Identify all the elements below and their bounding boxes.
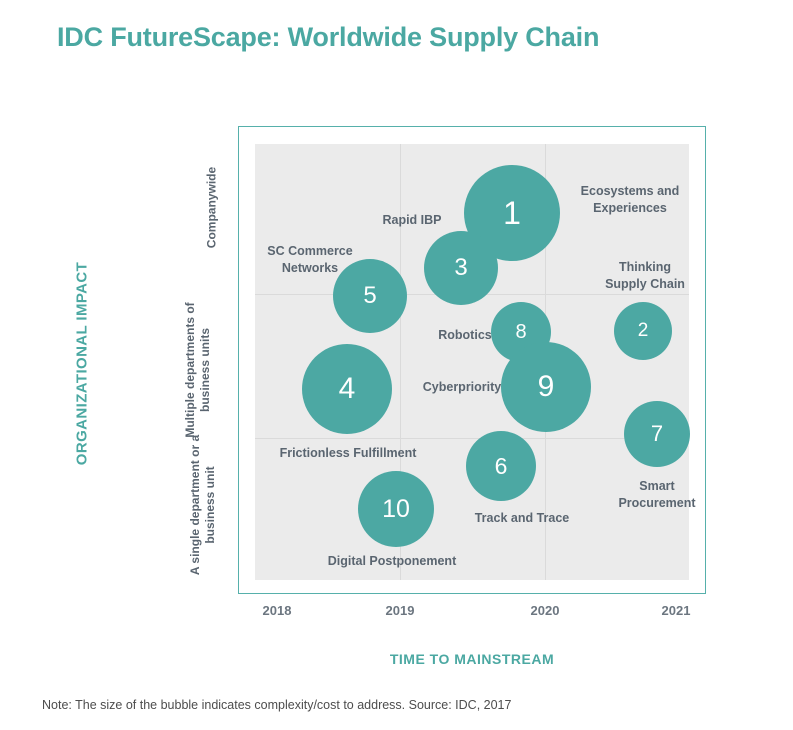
y-axis-tick-multiple-departments: Multiple departments of business units <box>183 300 213 440</box>
bubble-label-3: Rapid IBP <box>352 212 472 229</box>
y-axis-tick-companywide: Companywide <box>205 138 220 278</box>
bubble-label-9: Cyberpriority <box>402 379 522 396</box>
bubble-label-10: Digital Postponement <box>302 553 482 570</box>
y-axis-title: ORGANIZATIONAL IMPACT <box>74 249 91 479</box>
x-axis-tick-2019: 2019 <box>365 603 435 618</box>
bubble-2[interactable]: 2 <box>614 302 672 360</box>
y-axis-tick-single-department: A single department or a business unit <box>188 430 218 580</box>
bubble-label-1: Ecosystems and Experiences <box>560 183 700 217</box>
x-axis-tick-2020: 2020 <box>510 603 580 618</box>
footnote: Note: The size of the bubble indicates c… <box>42 698 511 712</box>
page-title: IDC FutureScape: Worldwide Supply Chain <box>57 22 599 53</box>
bubble-7[interactable]: 7 <box>624 401 690 467</box>
bubble-6[interactable]: 6 <box>466 431 536 501</box>
x-axis-title: TIME TO MAINSTREAM <box>238 651 706 667</box>
bubble-label-5: SC Commerce Networks <box>245 243 375 277</box>
x-axis-tick-2021: 2021 <box>641 603 711 618</box>
x-axis-tick-2018: 2018 <box>242 603 312 618</box>
bubble-label-4: Frictionless Fulfillment <box>258 445 438 462</box>
bubble-label-6: Track and Trace <box>452 510 592 527</box>
bubble-4[interactable]: 4 <box>302 344 392 434</box>
bubble-label-2: Thinking Supply Chain <box>580 259 710 293</box>
bubble-3[interactable]: 3 <box>424 231 498 305</box>
bubble-label-8: Robotics <box>410 327 520 344</box>
bubble-10[interactable]: 10 <box>358 471 434 547</box>
bubble-label-7: Smart Procurement <box>592 478 722 512</box>
